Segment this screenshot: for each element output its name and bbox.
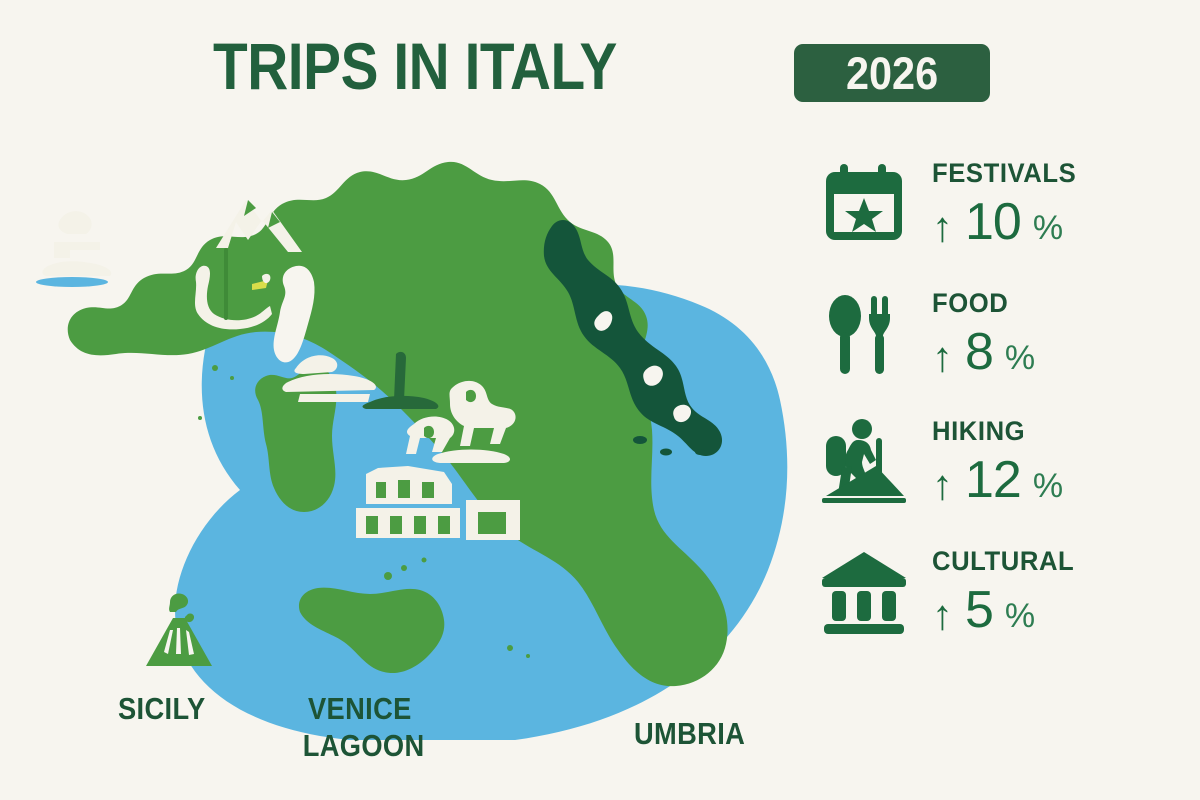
stats-panel: FESTIVALS ↑ 10 % xyxy=(812,152,1182,672)
spoon-fork-icon xyxy=(812,282,916,386)
stat-text-cultural: CULTURAL ↑ 5 % xyxy=(916,540,1182,636)
stat-number-hiking: 12 xyxy=(965,454,1021,506)
stat-row-food: FOOD ↑ 8 % xyxy=(812,282,1182,394)
stat-label-food: FOOD xyxy=(932,288,1170,318)
percent-symbol: % xyxy=(1005,341,1035,375)
caption-sicily-label: SICILY xyxy=(118,691,206,726)
museum-icon xyxy=(812,540,916,644)
up-arrow-icon: ↑ xyxy=(932,336,953,378)
stat-value-food: ↑ 8 % xyxy=(932,326,1182,378)
stat-value-festivals: ↑ 10 % xyxy=(932,196,1182,248)
hiker-icon xyxy=(812,410,916,514)
stat-value-cultural: ↑ 5 % xyxy=(932,584,1182,636)
up-arrow-icon: ↑ xyxy=(932,594,953,636)
caption-venice-lagoon: VENICE LAGOON xyxy=(308,690,425,764)
lakes-villa-icon xyxy=(36,211,111,287)
stat-row-cultural: CULTURAL ↑ 5 % xyxy=(812,540,1182,652)
italy-map xyxy=(0,100,800,740)
stat-value-hiking: ↑ 12 % xyxy=(932,454,1182,506)
stat-row-festivals: FESTIVALS ↑ 10 % xyxy=(812,152,1182,264)
stat-label-hiking: HIKING xyxy=(932,416,1170,446)
caption-sicily: SICILY xyxy=(118,690,206,727)
percent-symbol: % xyxy=(1005,599,1035,633)
page-title: TRIPS IN ITALY xyxy=(213,33,617,99)
stat-row-hiking: HIKING ↑ 12 % xyxy=(812,410,1182,522)
year-badge: 2026 xyxy=(794,44,990,102)
stat-label-cultural: CULTURAL xyxy=(932,546,1170,576)
up-arrow-icon: ↑ xyxy=(932,464,953,506)
caption-venice-line1: VENICE xyxy=(308,691,412,726)
percent-symbol: % xyxy=(1033,469,1063,503)
stat-number-cultural: 5 xyxy=(965,584,993,636)
percent-symbol: % xyxy=(1033,211,1063,245)
caption-venice-line2: LAGOON xyxy=(303,727,425,764)
up-arrow-icon: ↑ xyxy=(932,206,953,248)
caption-umbria: UMBRIA xyxy=(634,715,745,752)
calendar-star-icon xyxy=(812,152,916,256)
stat-text-hiking: HIKING ↑ 12 % xyxy=(916,410,1182,506)
stat-number-food: 8 xyxy=(965,326,993,378)
stat-text-festivals: FESTIVALS ↑ 10 % xyxy=(916,152,1182,248)
caption-umbria-label: UMBRIA xyxy=(634,716,745,751)
stat-label-festivals: FESTIVALS xyxy=(932,158,1170,188)
volcano-icon xyxy=(140,592,218,674)
stat-text-food: FOOD ↑ 8 % xyxy=(916,282,1182,378)
year-badge-label: 2026 xyxy=(846,51,938,96)
infographic-canvas: TRIPS IN ITALY 2026 xyxy=(0,0,1200,800)
stat-number-festivals: 10 xyxy=(965,196,1021,248)
